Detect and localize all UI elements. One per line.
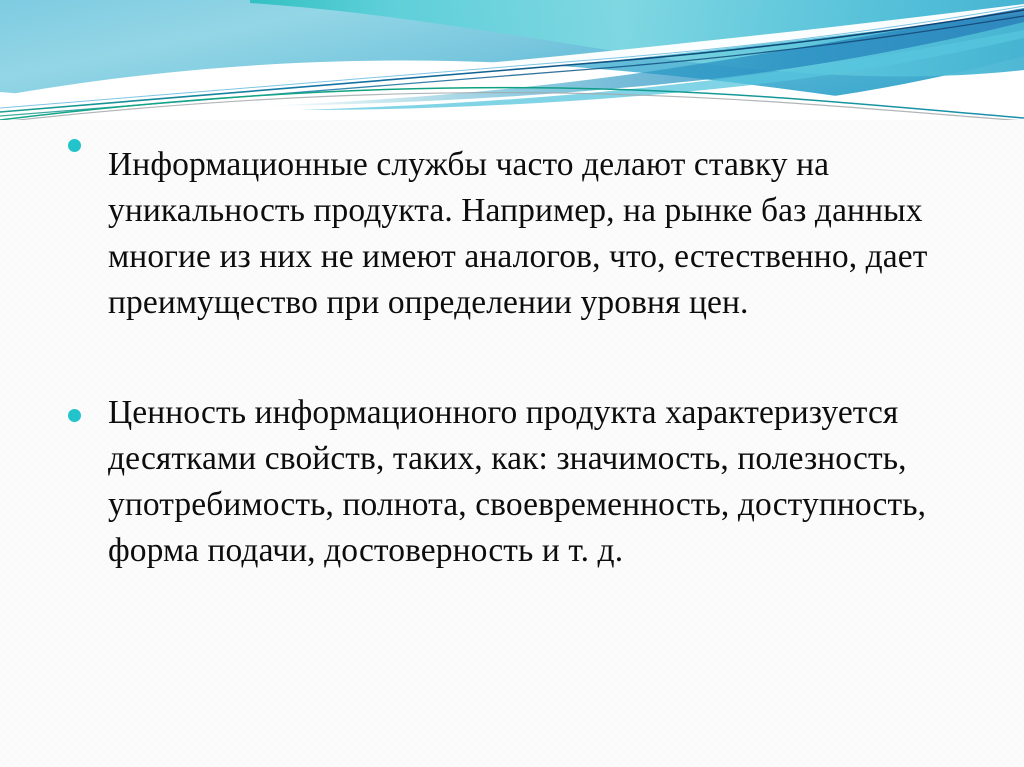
bullet-text: Ценность информационного продукта характ…	[108, 390, 938, 574]
round-bullet-icon	[68, 409, 81, 422]
presentation-slide: Информационные службы часто делают ставк…	[0, 0, 1024, 767]
list-item: Ценность информационного продукта характ…	[58, 390, 938, 574]
bullet-list: Информационные службы часто делают ставк…	[0, 120, 1024, 574]
slide-body: Информационные службы часто делают ставк…	[0, 120, 1024, 574]
bullet-text: Информационные службы часто делают ставк…	[108, 142, 938, 326]
list-item: Информационные службы часто делают ставк…	[58, 120, 938, 326]
round-bullet-icon	[68, 139, 81, 152]
decorative-wave-banner	[0, 0, 1024, 120]
